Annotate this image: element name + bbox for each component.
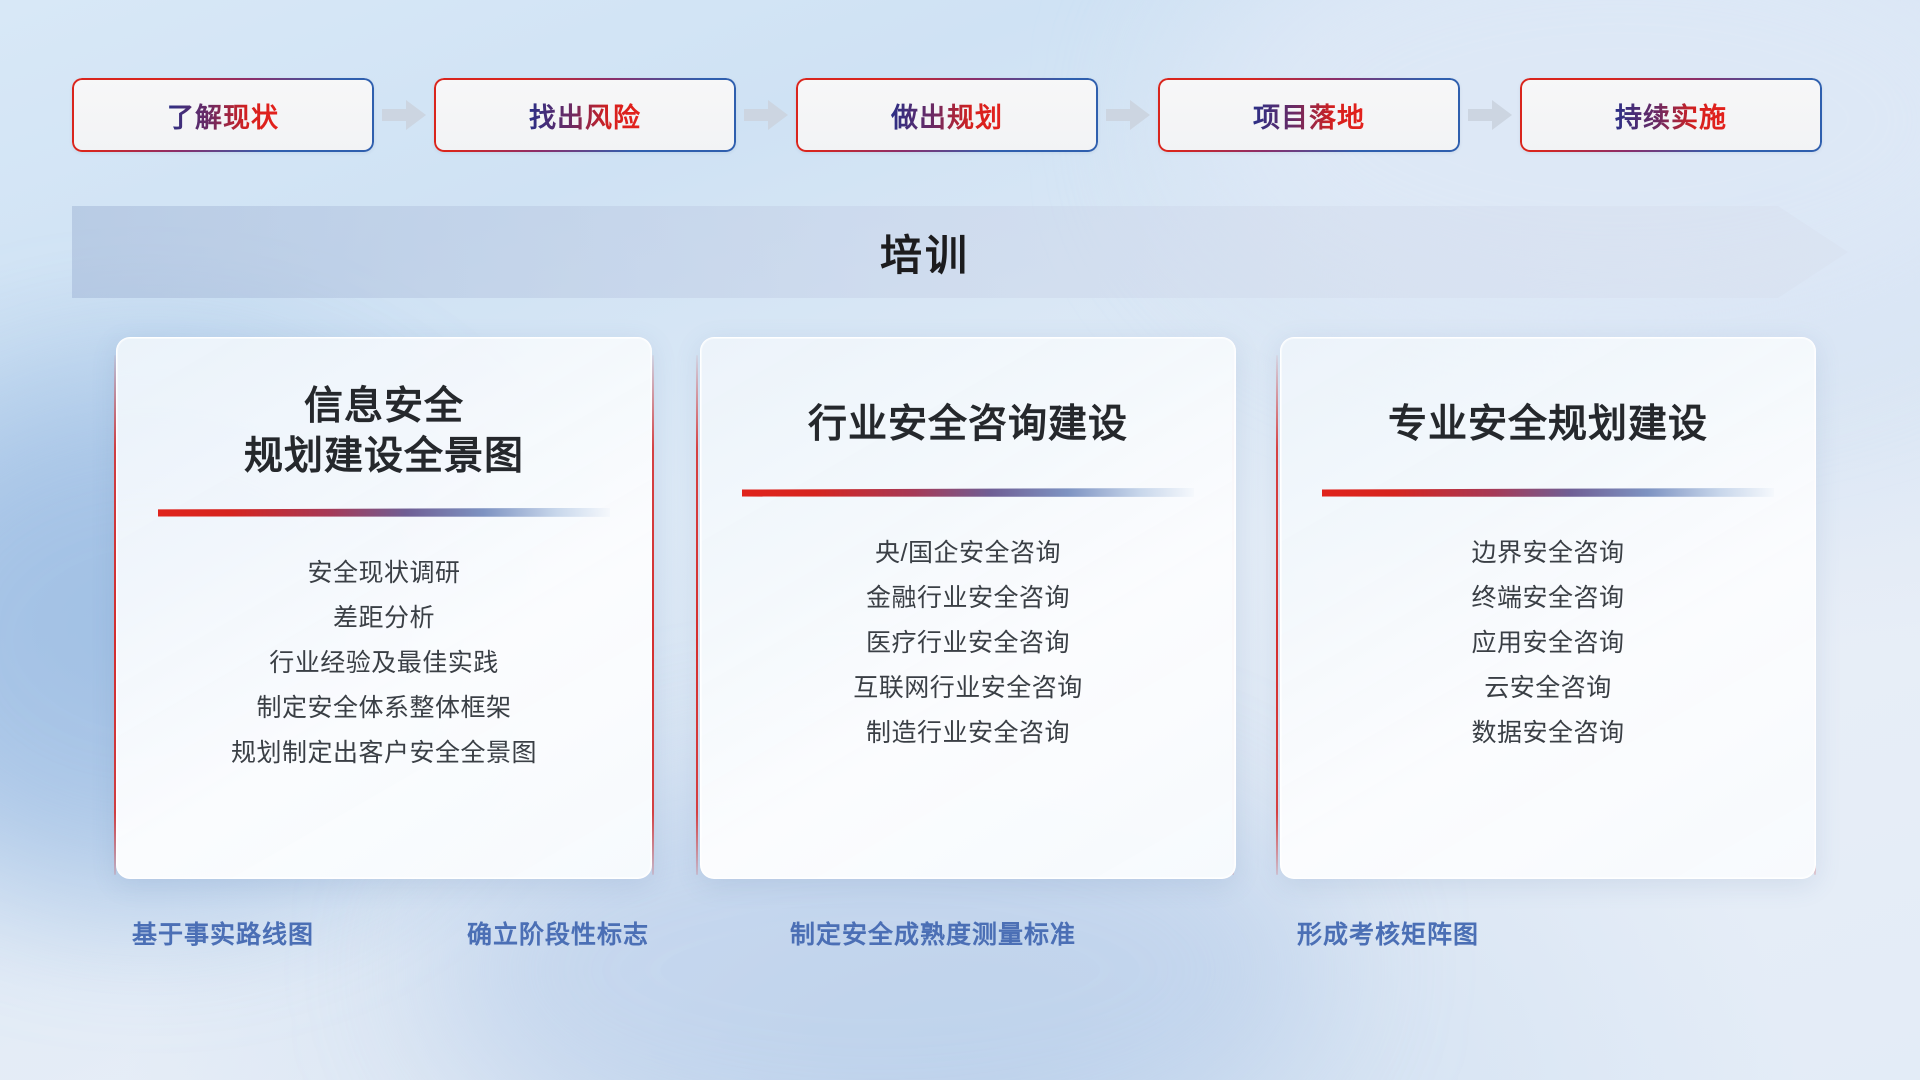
list-item: 行业经验及最佳实践 bbox=[117, 641, 651, 686]
bottom-label-2: 确立阶段性标志 bbox=[467, 915, 649, 951]
bottom-label-row: 基于事实路线图 确立阶段性标志 制定安全成熟度测量标准 形成考核矩阵图 bbox=[0, 915, 1920, 965]
step-box-1[interactable]: 了解现状 bbox=[72, 78, 374, 152]
list-item: 终端安全咨询 bbox=[1281, 576, 1815, 621]
step-label-3: 做出规划 bbox=[891, 96, 1003, 135]
list-item: 医疗行业安全咨询 bbox=[701, 621, 1235, 666]
list-item: 差距分析 bbox=[117, 596, 651, 641]
step-box-2[interactable]: 找出风险 bbox=[434, 78, 736, 152]
process-step-row: 了解现状 找出风险 做出规划 项目落地 bbox=[72, 78, 1848, 152]
bottom-label-4: 形成考核矩阵图 bbox=[1297, 915, 1479, 951]
card-industry-security-consulting[interactable]: 行业安全咨询建设 央/国企安全咨询 金融行业安全咨询 医疗行业安全咨询 互联网行… bbox=[700, 337, 1236, 879]
step-arrow-icon-3 bbox=[1106, 100, 1150, 130]
list-item: 云安全咨询 bbox=[1281, 666, 1815, 711]
slide-canvas: 了解现状 找出风险 做出规划 项目落地 bbox=[0, 0, 1920, 1080]
step-arrow-icon-2 bbox=[744, 100, 788, 130]
step-label-5: 持续实施 bbox=[1615, 96, 1727, 135]
card-title-2: 行业安全咨询建设 bbox=[808, 400, 1128, 450]
list-item: 应用安全咨询 bbox=[1281, 621, 1815, 666]
list-item: 制定安全体系整体框架 bbox=[117, 686, 651, 731]
list-item: 规划制定出客户安全全景图 bbox=[117, 731, 651, 776]
card-information-security-blueprint[interactable]: 信息安全 规划建设全景图 安全现状调研 差距分析 行业经验及最佳实践 制定安全体… bbox=[116, 337, 652, 879]
card-professional-security-planning[interactable]: 专业安全规划建设 边界安全咨询 终端安全咨询 应用安全咨询 云安全咨询 数据安全… bbox=[1280, 337, 1816, 879]
card-accent-edge-5 bbox=[1276, 355, 1278, 875]
step-arrow-icon-1 bbox=[382, 100, 426, 130]
card-list-3: 边界安全咨询 终端安全咨询 应用安全咨询 云安全咨询 数据安全咨询 bbox=[1281, 531, 1815, 756]
card-title-1: 信息安全 规划建设全景图 bbox=[244, 382, 524, 482]
bg-blob-top-right bbox=[1180, 0, 1920, 360]
list-item: 安全现状调研 bbox=[117, 551, 651, 596]
bottom-label-1: 基于事实路线图 bbox=[132, 915, 314, 951]
training-banner: 培训 bbox=[72, 206, 1848, 298]
card-list-2: 央/国企安全咨询 金融行业安全咨询 医疗行业安全咨询 互联网行业安全咨询 制造行… bbox=[701, 531, 1235, 756]
step-box-3[interactable]: 做出规划 bbox=[796, 78, 1098, 152]
step-arrow-icon-4 bbox=[1468, 100, 1512, 130]
list-item: 金融行业安全咨询 bbox=[701, 576, 1235, 621]
card-title-3: 专业安全规划建设 bbox=[1388, 400, 1708, 450]
card-accent-edge-2 bbox=[652, 355, 654, 875]
card-accent-edge-3 bbox=[696, 355, 698, 875]
step-box-4[interactable]: 项目落地 bbox=[1158, 78, 1460, 152]
step-label-2: 找出风险 bbox=[529, 96, 641, 135]
list-item: 互联网行业安全咨询 bbox=[701, 666, 1235, 711]
step-label-1: 了解现状 bbox=[167, 96, 279, 135]
card-divider-1 bbox=[158, 508, 610, 517]
list-item: 边界安全咨询 bbox=[1281, 531, 1815, 576]
list-item: 制造行业安全咨询 bbox=[701, 711, 1235, 756]
card-divider-2 bbox=[742, 488, 1194, 497]
step-box-5[interactable]: 持续实施 bbox=[1520, 78, 1822, 152]
bottom-label-3: 制定安全成熟度测量标准 bbox=[790, 915, 1076, 951]
list-item: 数据安全咨询 bbox=[1281, 711, 1815, 756]
card-list-1: 安全现状调研 差距分析 行业经验及最佳实践 制定安全体系整体框架 规划制定出客户… bbox=[117, 551, 651, 776]
list-item: 央/国企安全咨询 bbox=[701, 531, 1235, 576]
training-banner-title: 培训 bbox=[72, 206, 1778, 298]
card-row: 信息安全 规划建设全景图 安全现状调研 差距分析 行业经验及最佳实践 制定安全体… bbox=[116, 337, 1832, 877]
step-label-4: 项目落地 bbox=[1253, 96, 1365, 135]
card-divider-3 bbox=[1322, 488, 1774, 497]
